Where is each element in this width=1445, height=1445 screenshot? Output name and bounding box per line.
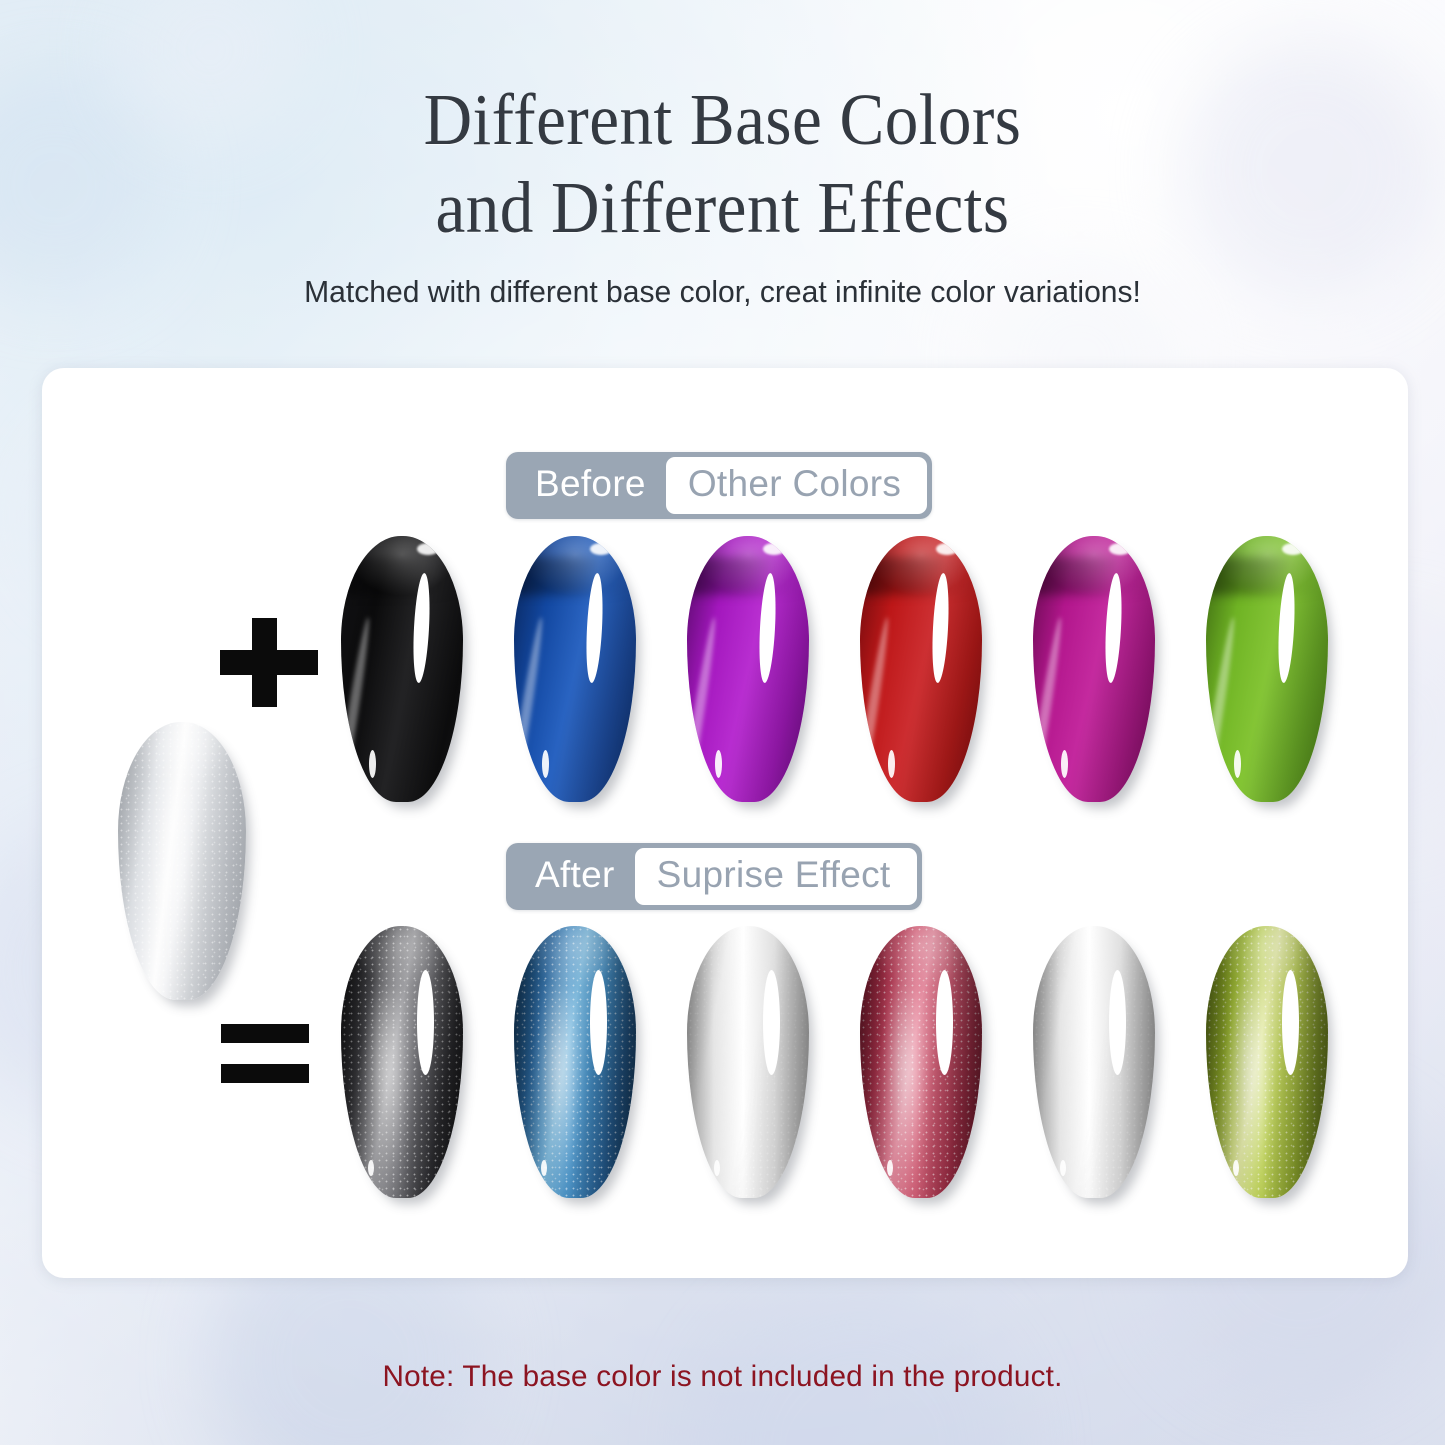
badge-after-label: After — [511, 848, 635, 905]
badge-before-label: Before — [511, 457, 666, 514]
infographic-page: Different Base Colors and Different Effe… — [0, 0, 1445, 1445]
header: Different Base Colors and Different Effe… — [0, 76, 1445, 310]
badge-after-sublabel: Suprise Effect — [635, 848, 917, 905]
note-text: Note: The base color is not included in … — [7, 1360, 1438, 1394]
plus-operator-icon — [215, 608, 323, 716]
badge-after: After Suprise Effect — [506, 843, 922, 910]
equals-operator-icon — [221, 1020, 321, 1090]
badge-before-sublabel: Other Colors — [666, 457, 927, 514]
badge-before: Before Other Colors — [506, 452, 932, 519]
page-title-line-1: Different Base Colors — [58, 76, 1387, 164]
page-subtitle: Matched with different base color, creat… — [22, 274, 1424, 310]
cat-eye-band — [149, 722, 193, 1000]
page-title-line-2: and Different Effects — [58, 164, 1387, 252]
